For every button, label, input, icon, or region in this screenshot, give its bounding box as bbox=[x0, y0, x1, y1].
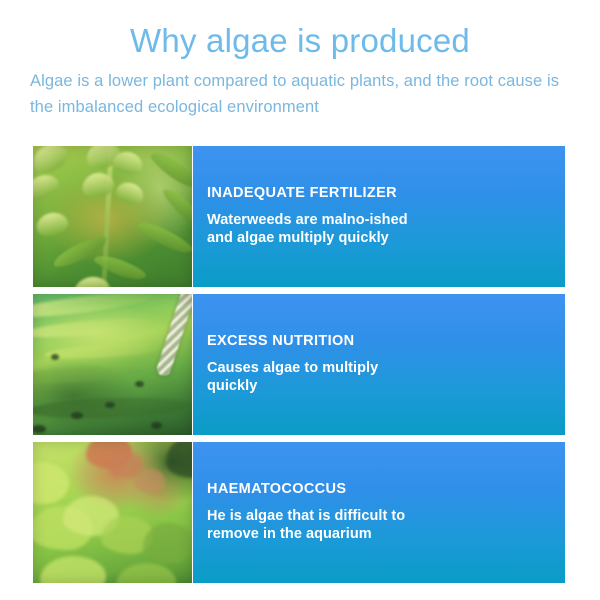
reason-body: He is algae that is difficult to remove … bbox=[207, 507, 457, 543]
reason-body-line-1: Causes algae to multiply bbox=[207, 360, 378, 376]
reason-body-line-2: remove in the aquarium bbox=[207, 526, 372, 542]
header: Why algae is produced Algae is a lower p… bbox=[0, 0, 600, 120]
algae-photo-inadequate-fertilizer bbox=[33, 146, 192, 287]
page-subtitle: Algae is a lower plant compared to aquat… bbox=[0, 57, 600, 120]
reason-body: Causes algae to multiply quickly bbox=[207, 359, 457, 395]
reason-list: INADEQUATE FERTILIZER Waterweeds are mal… bbox=[0, 146, 600, 590]
reason-heading: EXCESS NUTRITION bbox=[207, 334, 565, 350]
reason-panel-excess-nutrition: EXCESS NUTRITION Causes algae to multipl… bbox=[193, 294, 565, 435]
list-item: HAEMATOCOCCUS He is algae that is diffic… bbox=[0, 442, 600, 583]
reason-heading: HAEMATOCOCCUS bbox=[207, 482, 565, 498]
reason-body-line-2: and algae multiply quickly bbox=[207, 230, 389, 246]
list-item: INADEQUATE FERTILIZER Waterweeds are mal… bbox=[0, 146, 600, 287]
reason-heading: INADEQUATE FERTILIZER bbox=[207, 186, 565, 202]
reason-body-line-2: quickly bbox=[207, 378, 257, 394]
algae-photo-excess-nutrition bbox=[33, 294, 192, 435]
reason-body-line-1: He is algae that is difficult to bbox=[207, 508, 405, 524]
list-item: EXCESS NUTRITION Causes algae to multipl… bbox=[0, 294, 600, 435]
algae-infographic: Why algae is produced Algae is a lower p… bbox=[0, 0, 600, 600]
page-title: Why algae is produced bbox=[0, 0, 600, 57]
reason-panel-haematococcus: HAEMATOCOCCUS He is algae that is diffic… bbox=[193, 442, 565, 583]
reason-panel-inadequate-fertilizer: INADEQUATE FERTILIZER Waterweeds are mal… bbox=[193, 146, 565, 287]
reason-body: Waterweeds are malno-ished and algae mul… bbox=[207, 211, 457, 247]
reason-body-line-1: Waterweeds are malno-ished bbox=[207, 212, 408, 228]
algae-photo-haematococcus bbox=[33, 442, 192, 583]
